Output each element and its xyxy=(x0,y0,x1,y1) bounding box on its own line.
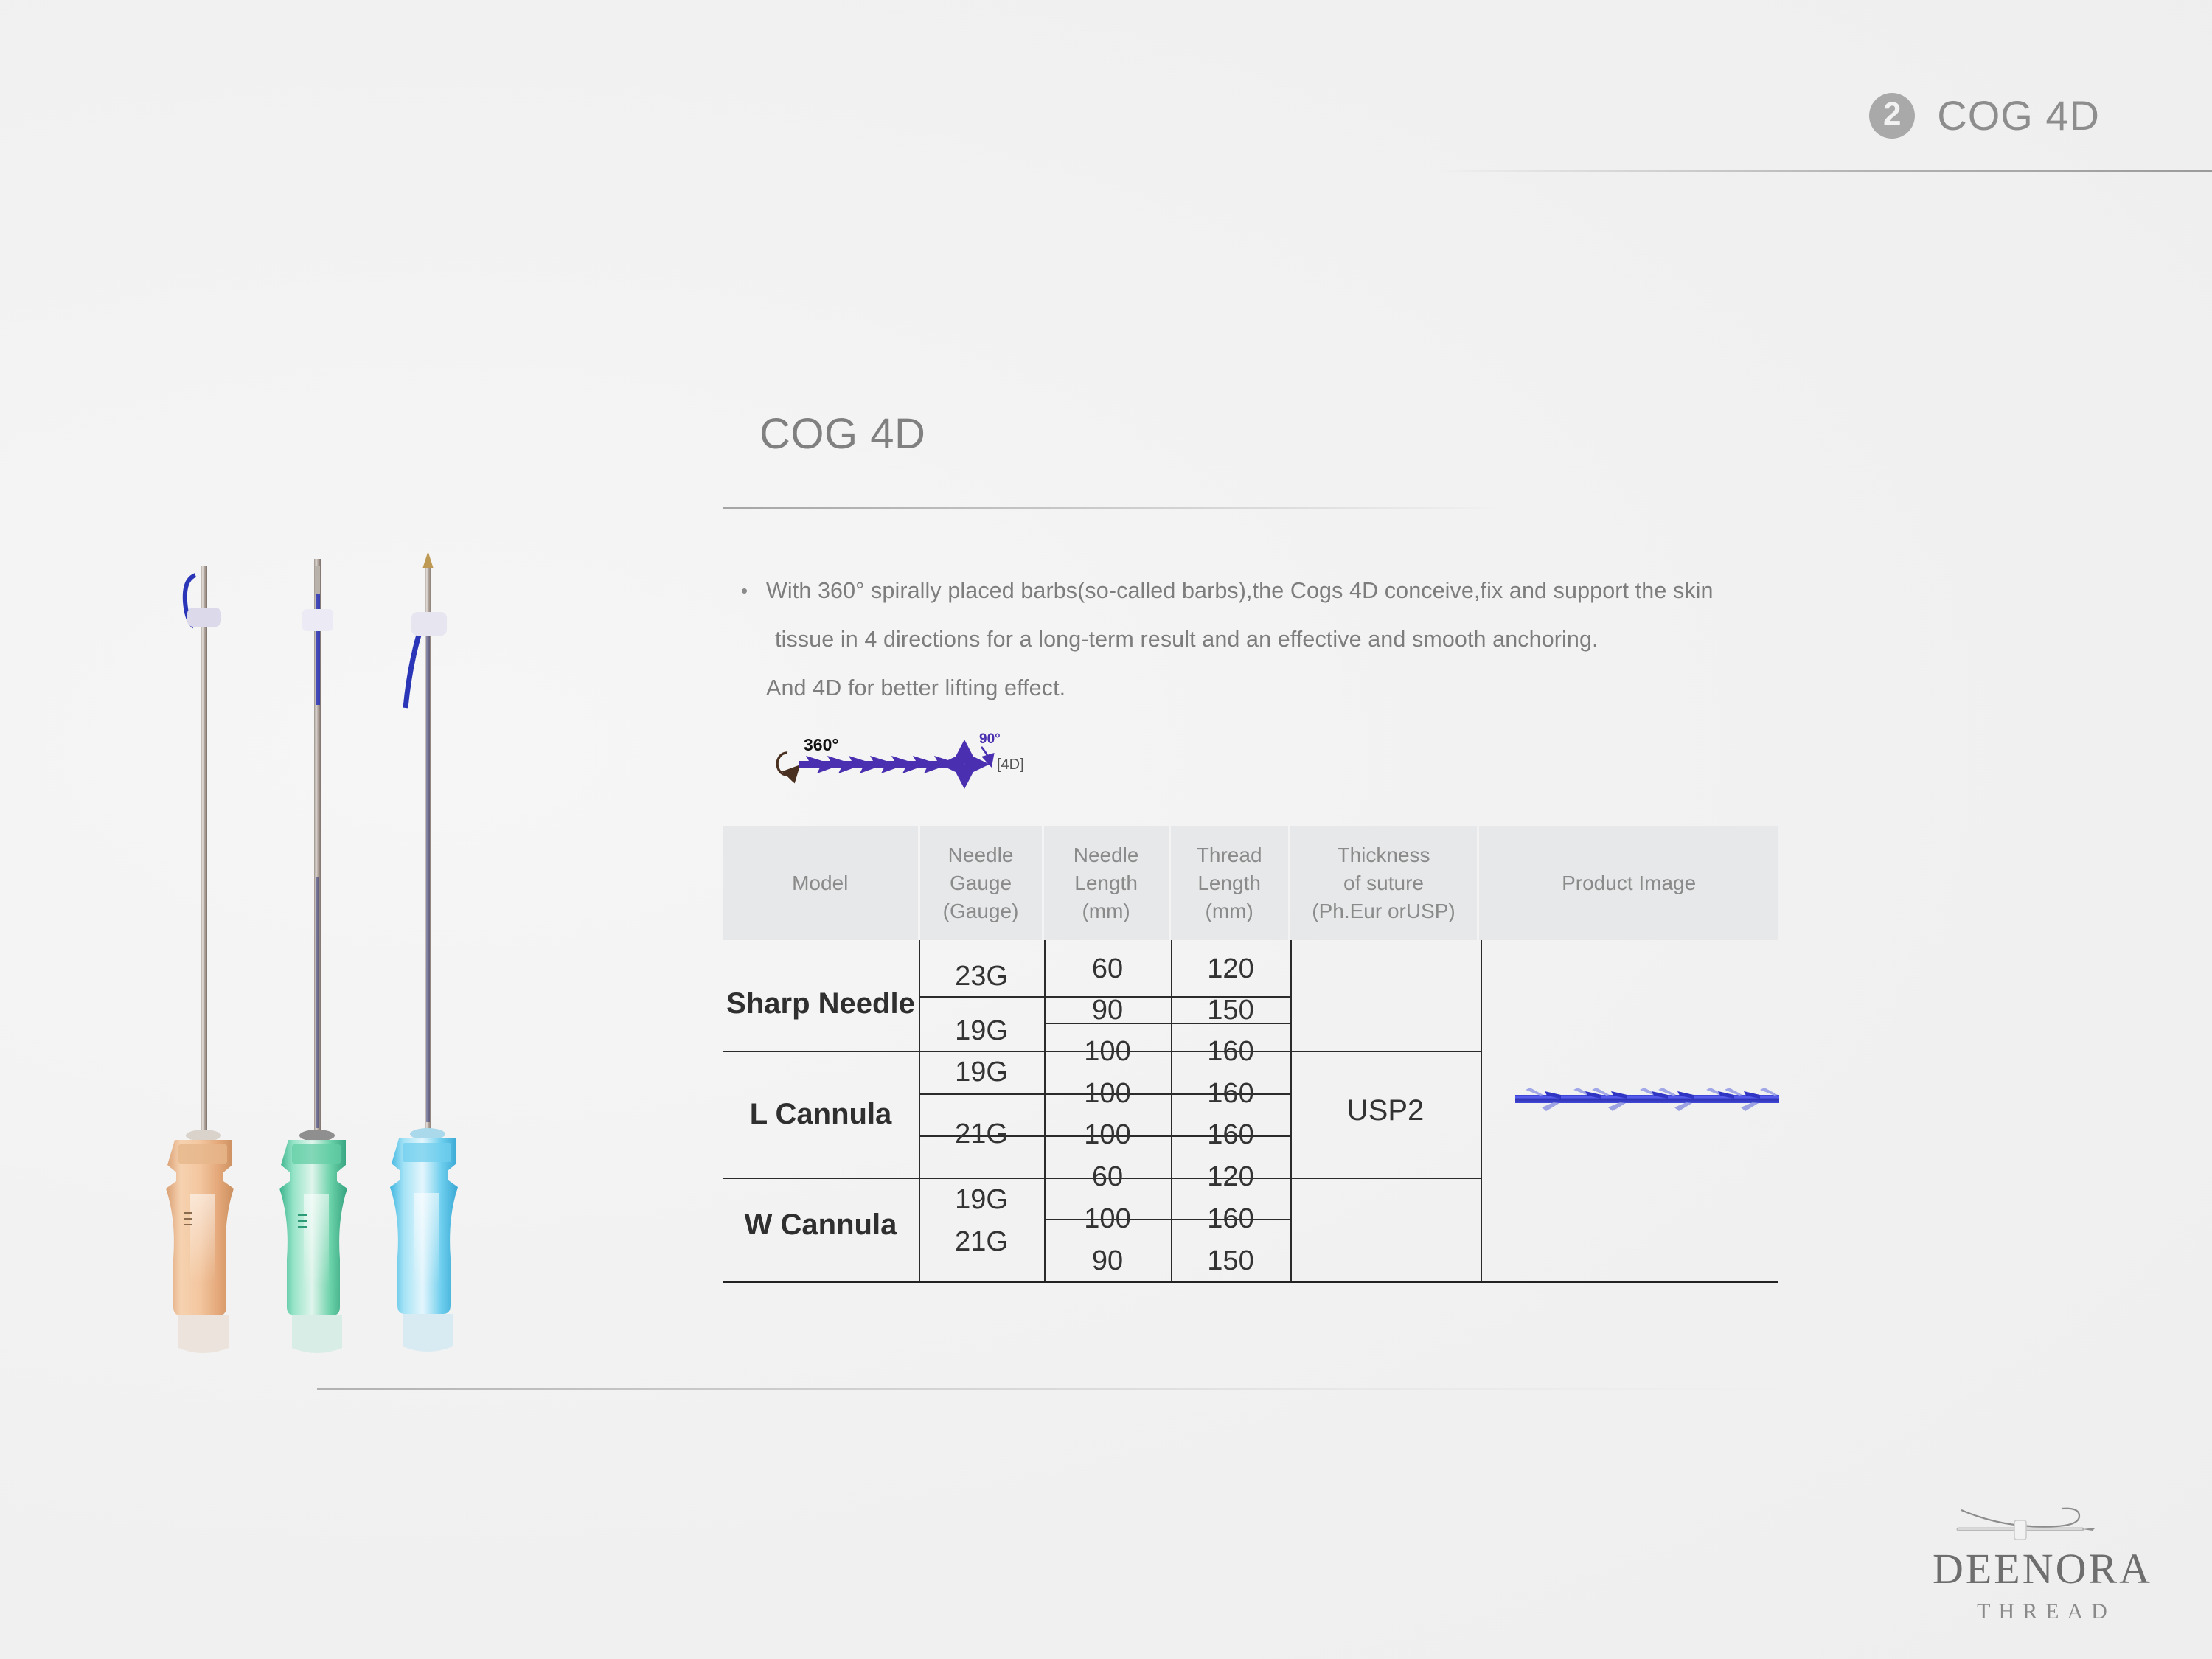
description-block: • With 360° spirally placed barbs(so-cal… xyxy=(741,566,1788,712)
rotation-label: 360° xyxy=(804,735,839,754)
header-line: Length xyxy=(1074,869,1139,897)
brand-logo: DEENORA THREAD xyxy=(1917,1504,2168,1624)
specification-table: Model Needle Gauge (Gauge) Needle Length… xyxy=(723,826,1778,1283)
header-title-group: 2 COG 4D xyxy=(1869,91,2100,139)
product-blue-cannula xyxy=(390,552,458,1352)
bullet-dot-icon: • xyxy=(741,566,766,615)
rotation-arrow-icon xyxy=(777,753,793,775)
table-cell-gauge: 21G xyxy=(919,1114,1044,1154)
slide-canvas: 2 COG 4D COG 4D • With 360° spirally pla… xyxy=(0,0,2212,1659)
page-title: COG 4D xyxy=(759,409,925,459)
header-line: (mm) xyxy=(1074,897,1139,925)
logo-name: DEENORA xyxy=(1917,1547,2168,1592)
barbed-thread xyxy=(799,756,950,773)
needle-thread-logo-icon xyxy=(1917,1504,2168,1547)
title-divider xyxy=(723,507,1504,509)
table-cell-needle-length: 100 xyxy=(1044,1199,1171,1239)
description-line: tissue in 4 directions for a long-term r… xyxy=(741,615,1788,664)
indent-spacer xyxy=(741,664,766,712)
slide-header: 2 COG 4D xyxy=(1475,58,2212,175)
dimension-label: [4D] xyxy=(997,757,1024,773)
table-header-thread-length: Thread Length (mm) xyxy=(1171,826,1288,940)
table-cell-needle-length: 60 xyxy=(1044,949,1171,989)
header-line: Product Image xyxy=(1562,872,1696,894)
table-cell-thread-length: 160 xyxy=(1171,1115,1290,1155)
header-line: Needle xyxy=(1074,841,1139,869)
table-cell-gauge: 19G xyxy=(919,1011,1044,1051)
table-cell-thread-length: 120 xyxy=(1171,1157,1290,1197)
table-cell-thread-length: 160 xyxy=(1171,1199,1290,1239)
table-cell-suture-thickness: USP2 xyxy=(1290,940,1481,1281)
product-green-cannula xyxy=(279,559,347,1353)
header-line: Model xyxy=(792,872,848,894)
header-line: Needle xyxy=(943,841,1019,869)
table-cell-gauge: 23G xyxy=(919,956,1044,996)
header-line: Thread xyxy=(1197,841,1262,869)
table-header-product-image: Product Image xyxy=(1479,826,1778,940)
header-title: COG 4D xyxy=(1937,91,2100,139)
table-header-model: Model xyxy=(723,826,918,940)
section-number-badge: 2 xyxy=(1869,93,1915,139)
logo-subtitle: THREAD xyxy=(1917,1599,2168,1624)
description-line: And 4D for better lifting effect. xyxy=(741,664,1788,712)
indent-spacer xyxy=(741,615,766,664)
description-line: • With 360° spirally placed barbs(so-cal… xyxy=(741,566,1788,615)
header-line: (Ph.Eur orUSP) xyxy=(1312,897,1455,925)
header-line: of suture xyxy=(1312,869,1455,897)
table-cell-thread-length: 160 xyxy=(1171,1074,1290,1113)
table-cell-needle-length: 100 xyxy=(1044,1115,1171,1155)
product-photo-group xyxy=(133,546,546,1519)
ground-line xyxy=(317,1388,1792,1390)
header-line: Thickness xyxy=(1312,841,1455,869)
table-cell-model: Sharp Needle xyxy=(723,981,919,1026)
table-cell-needle-length: 100 xyxy=(1044,1032,1171,1071)
header-line: (Gauge) xyxy=(943,897,1019,925)
table-cell-thread-length: 160 xyxy=(1171,1032,1290,1071)
table-grid: Sharp Needle L Cannula W Cannula 23G 19G… xyxy=(723,940,1778,1281)
product-orange-cannula xyxy=(166,566,234,1353)
description-text: With 360° spirally placed barbs(so-calle… xyxy=(766,566,1714,615)
table-body: Sharp Needle L Cannula W Cannula 23G 19G… xyxy=(723,940,1778,1283)
product-thread-image xyxy=(1515,1076,1779,1120)
table-cell-needle-length: 90 xyxy=(1044,990,1171,1030)
angle-label: 90° xyxy=(979,731,1001,747)
description-text: And 4D for better lifting effect. xyxy=(766,664,1065,712)
column-divider xyxy=(1481,940,1482,1281)
table-cell-needle-length: 90 xyxy=(1044,1241,1171,1281)
table-cell-thread-length: 150 xyxy=(1171,1241,1290,1281)
table-cell-thread-length: 120 xyxy=(1171,949,1290,989)
header-line: Gauge xyxy=(943,869,1019,897)
barb-diagram: 360° xyxy=(767,726,1150,815)
description-text: tissue in 4 directions for a long-term r… xyxy=(766,615,1599,664)
table-cell-gauge: 19G xyxy=(919,1052,1044,1092)
table-header-row: Model Needle Gauge (Gauge) Needle Length… xyxy=(723,826,1778,940)
table-cell-model: W Cannula xyxy=(723,1202,919,1248)
header-line: (mm) xyxy=(1197,897,1262,925)
header-line: Length xyxy=(1197,869,1262,897)
table-cell-thread-length: 150 xyxy=(1171,990,1290,1030)
table-cell-needle-length: 100 xyxy=(1044,1074,1171,1113)
table-header-needle-length: Needle Length (mm) xyxy=(1044,826,1169,940)
table-header-needle-gauge: Needle Gauge (Gauge) xyxy=(920,826,1042,940)
table-cell-model: L Cannula xyxy=(723,1091,919,1137)
table-cell-needle-length: 60 xyxy=(1044,1157,1171,1197)
header-divider xyxy=(1438,170,2212,172)
table-cell-gauge: 21G xyxy=(919,1222,1044,1262)
table-cell-gauge: 19G xyxy=(919,1180,1044,1220)
table-header-thickness: Thickness of suture (Ph.Eur orUSP) xyxy=(1290,826,1478,940)
